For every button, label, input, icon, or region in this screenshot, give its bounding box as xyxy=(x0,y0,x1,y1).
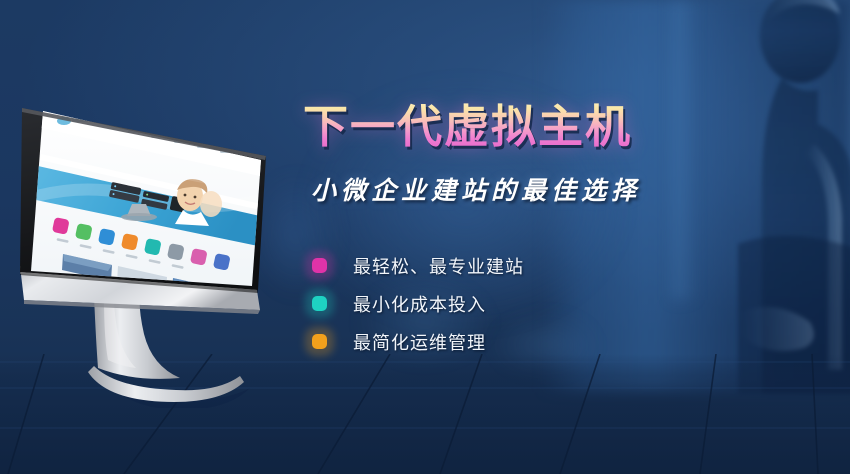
feature-list: 最轻松、最专业建站 最小化成本投入 最简化运维管理 xyxy=(305,247,723,360)
list-item: 最简化运维管理 xyxy=(305,323,723,360)
list-item: 最小化成本投入 xyxy=(305,285,723,322)
feature-label: 最简化运维管理 xyxy=(353,329,486,355)
promo-copy: 下一代虚拟主机 小微企业建站的最佳选择 最轻松、最专业建站 最小化成本投入 最简… xyxy=(303,100,723,361)
hosting-promo-banner: 下一代虚拟主机 小微企业建站的最佳选择 最轻松、最专业建站 最小化成本投入 最简… xyxy=(0,0,850,474)
bullet-dot-orange-icon xyxy=(312,334,327,349)
page-title: 下一代虚拟主机 xyxy=(303,100,723,153)
page-subtitle: 小微企业建站的最佳选择 xyxy=(311,171,723,207)
imac-monitor xyxy=(8,78,300,408)
list-item: 最轻松、最专业建站 xyxy=(305,247,723,284)
bullet-dot-teal-icon xyxy=(312,296,327,311)
bullet-dot-magenta-icon xyxy=(312,258,327,273)
feature-label: 最小化成本投入 xyxy=(353,291,486,317)
feature-label: 最轻松、最专业建站 xyxy=(353,253,524,279)
